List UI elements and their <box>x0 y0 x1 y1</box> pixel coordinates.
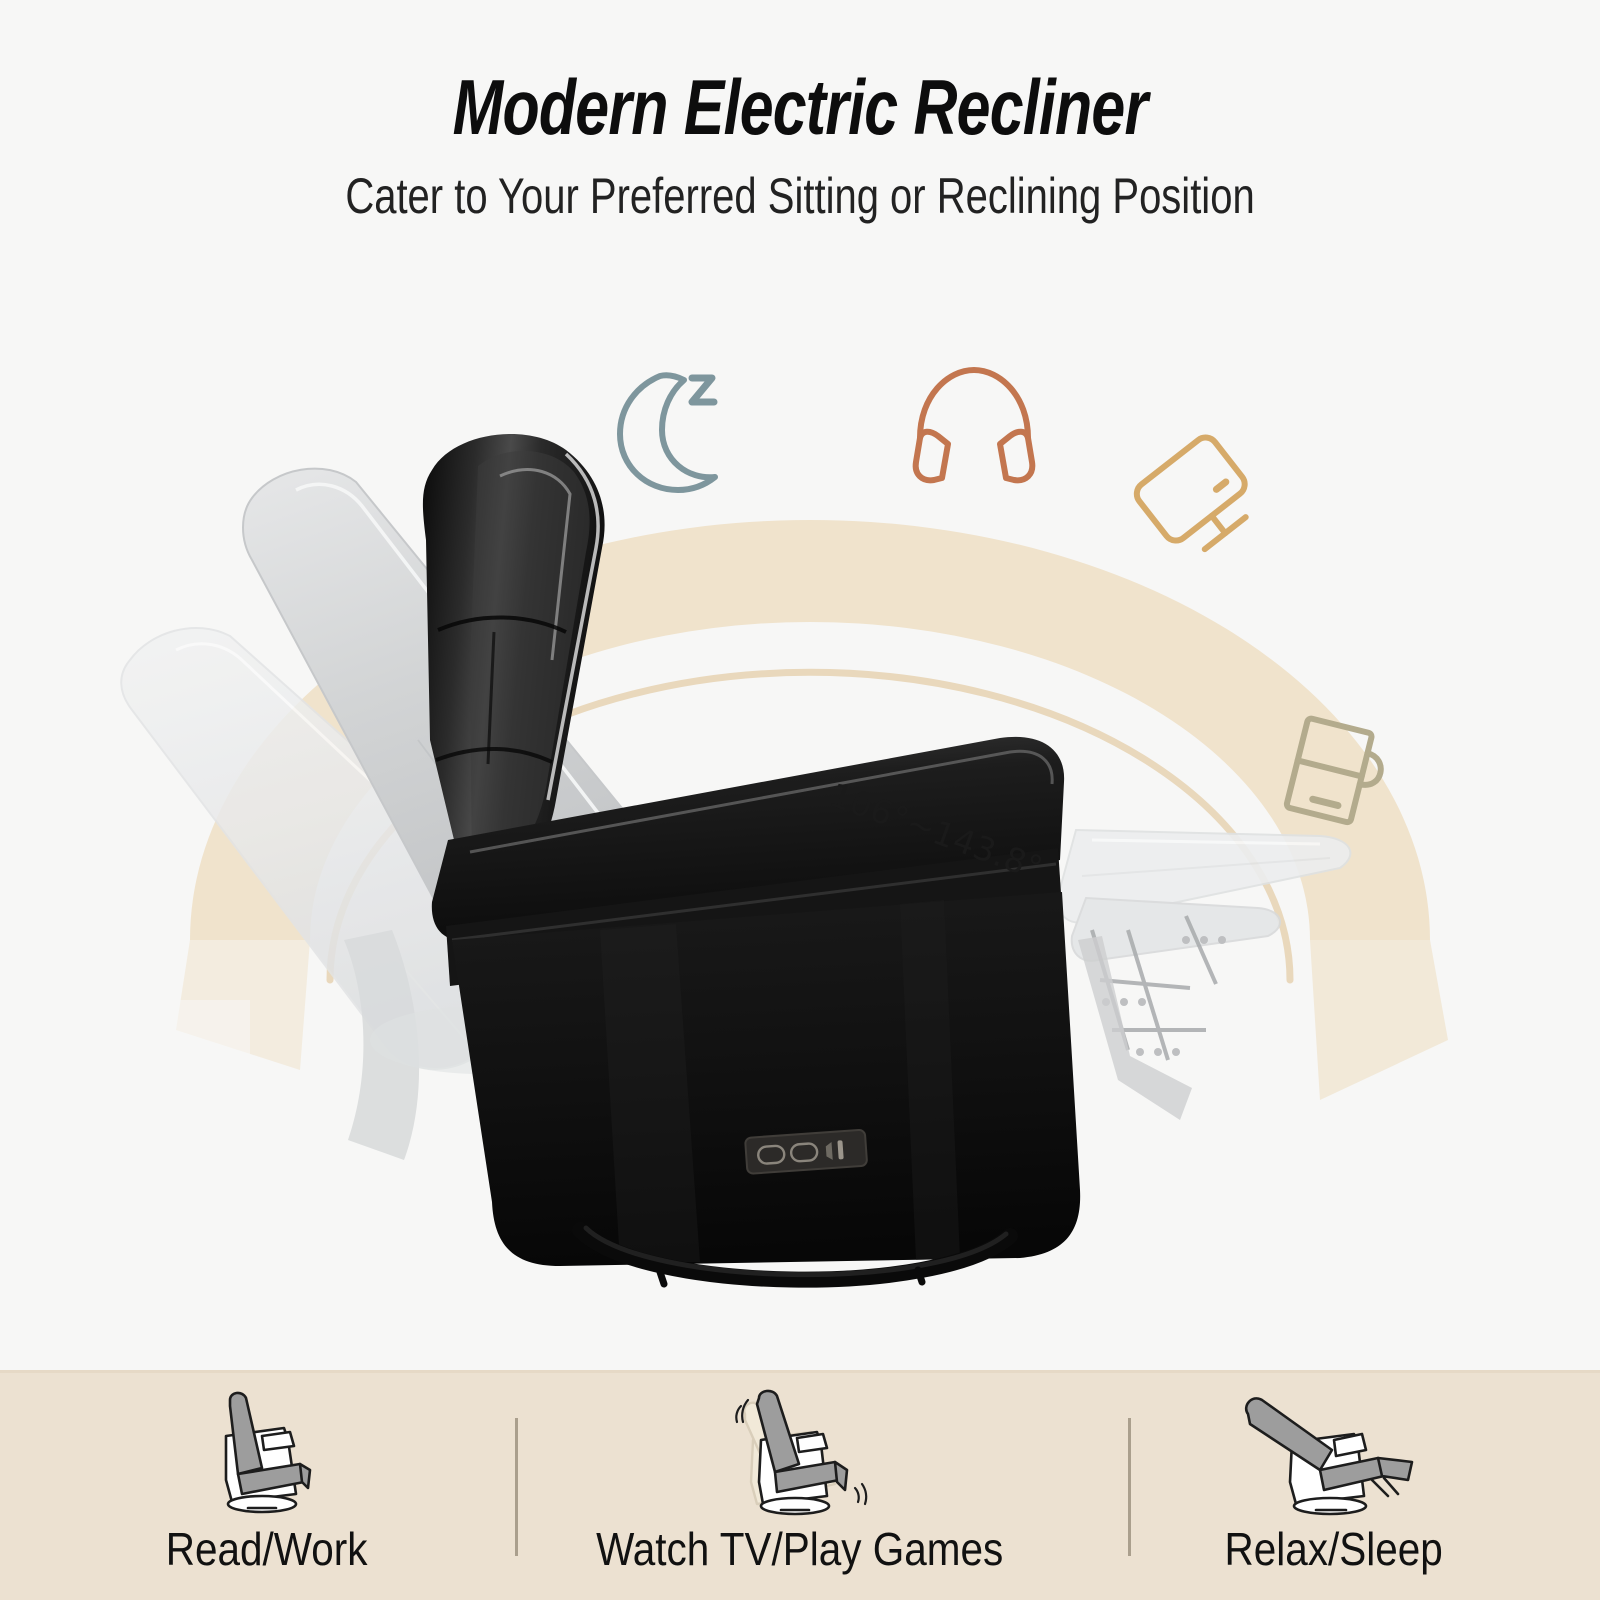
hero-illustration: 106°~143.8° <box>0 240 1600 1370</box>
control-panel[interactable] <box>745 1130 867 1174</box>
feature-bar: Read/Work <box>0 1370 1600 1600</box>
recliner-flat-icon <box>1067 1384 1600 1524</box>
product-infographic: Modern Electric Recliner Cater to Your P… <box>0 0 1600 1600</box>
icon-headphones <box>916 370 1033 480</box>
feature-label-read-work: Read/Work <box>32 1522 501 1576</box>
feature-item-relax-sleep: Relax/Sleep <box>1067 1370 1600 1600</box>
feature-item-read-work: Read/Work <box>0 1370 533 1600</box>
feature-item-watch-tv: Watch TV/Play Games <box>533 1370 1066 1600</box>
feature-label-relax-sleep: Relax/Sleep <box>1099 1522 1568 1576</box>
page-title: Modern Electric Recliner <box>176 0 1424 153</box>
icon-moon-sleep <box>620 375 715 490</box>
recliner-tilted-icon <box>533 1384 1066 1524</box>
feature-label-watch-tv: Watch TV/Play Games <box>565 1522 1034 1576</box>
page-subtitle: Cater to Your Preferred Sitting or Recli… <box>160 153 1440 225</box>
ghost-footrest <box>1058 830 1351 1120</box>
hero-graphic <box>0 240 1600 1370</box>
icon-tv-monitor <box>1132 433 1263 563</box>
recliner-upright-icon <box>0 1384 533 1524</box>
header: Modern Electric Recliner Cater to Your P… <box>0 0 1600 225</box>
